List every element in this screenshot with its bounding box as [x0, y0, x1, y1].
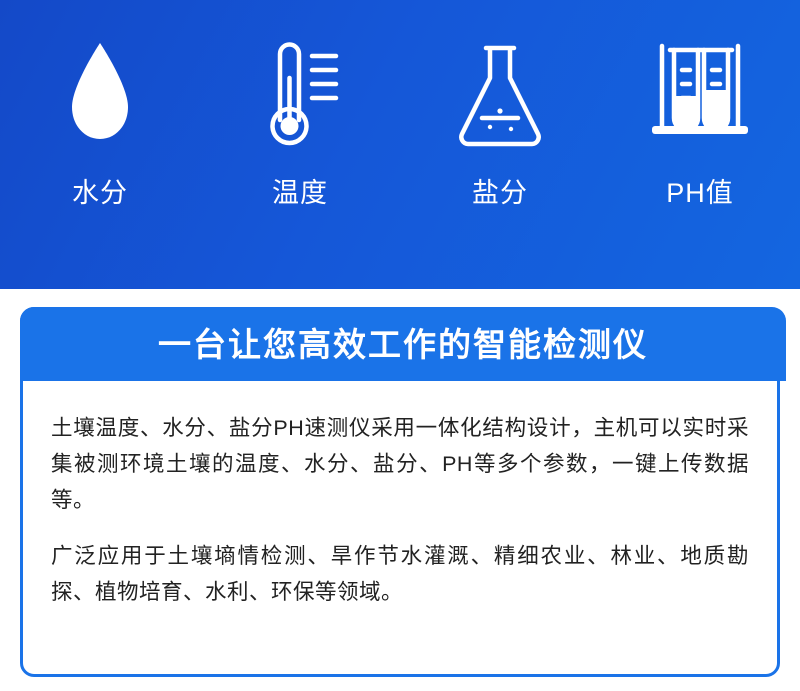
info-card-body: 土壤温度、水分、盐分PH速测仪采用一体化结构设计，主机可以实时采集被测环境土壤的… — [23, 384, 777, 610]
feature-label: PH值 — [666, 180, 734, 207]
flask-icon — [445, 28, 555, 158]
feature-row: 水分 温度 — [0, 28, 800, 207]
feature-item-moisture: 水分 — [25, 28, 175, 207]
water-drop-icon — [64, 28, 136, 158]
hero-banner: 水分 温度 — [0, 0, 800, 289]
description-paragraph: 土壤温度、水分、盐分PH速测仪采用一体化结构设计，主机可以实时采集被测环境土壤的… — [51, 410, 749, 518]
thermometer-icon — [250, 28, 350, 158]
info-card-header: 一台让您高效工作的智能检测仪 — [20, 307, 786, 381]
test-tubes-icon — [644, 28, 756, 158]
feature-item-salinity: 盐分 — [425, 28, 575, 207]
feature-item-temperature: 温度 — [225, 28, 375, 207]
info-card: 一台让您高效工作的智能检测仪 土壤温度、水分、盐分PH速测仪采用一体化结构设计，… — [20, 307, 780, 677]
info-card-title: 一台让您高效工作的智能检测仪 — [158, 328, 648, 361]
feature-label: 盐分 — [472, 180, 528, 207]
feature-item-ph: PH值 — [625, 28, 775, 207]
application-paragraph: 广泛应用于土壤墒情检测、旱作节水灌溉、精细农业、林业、地质勘探、植物培育、水利、… — [51, 538, 749, 610]
feature-label: 温度 — [272, 180, 328, 207]
info-section: 一台让您高效工作的智能检测仪 土壤温度、水分、盐分PH速测仪采用一体化结构设计，… — [0, 289, 800, 691]
feature-label: 水分 — [72, 180, 128, 207]
